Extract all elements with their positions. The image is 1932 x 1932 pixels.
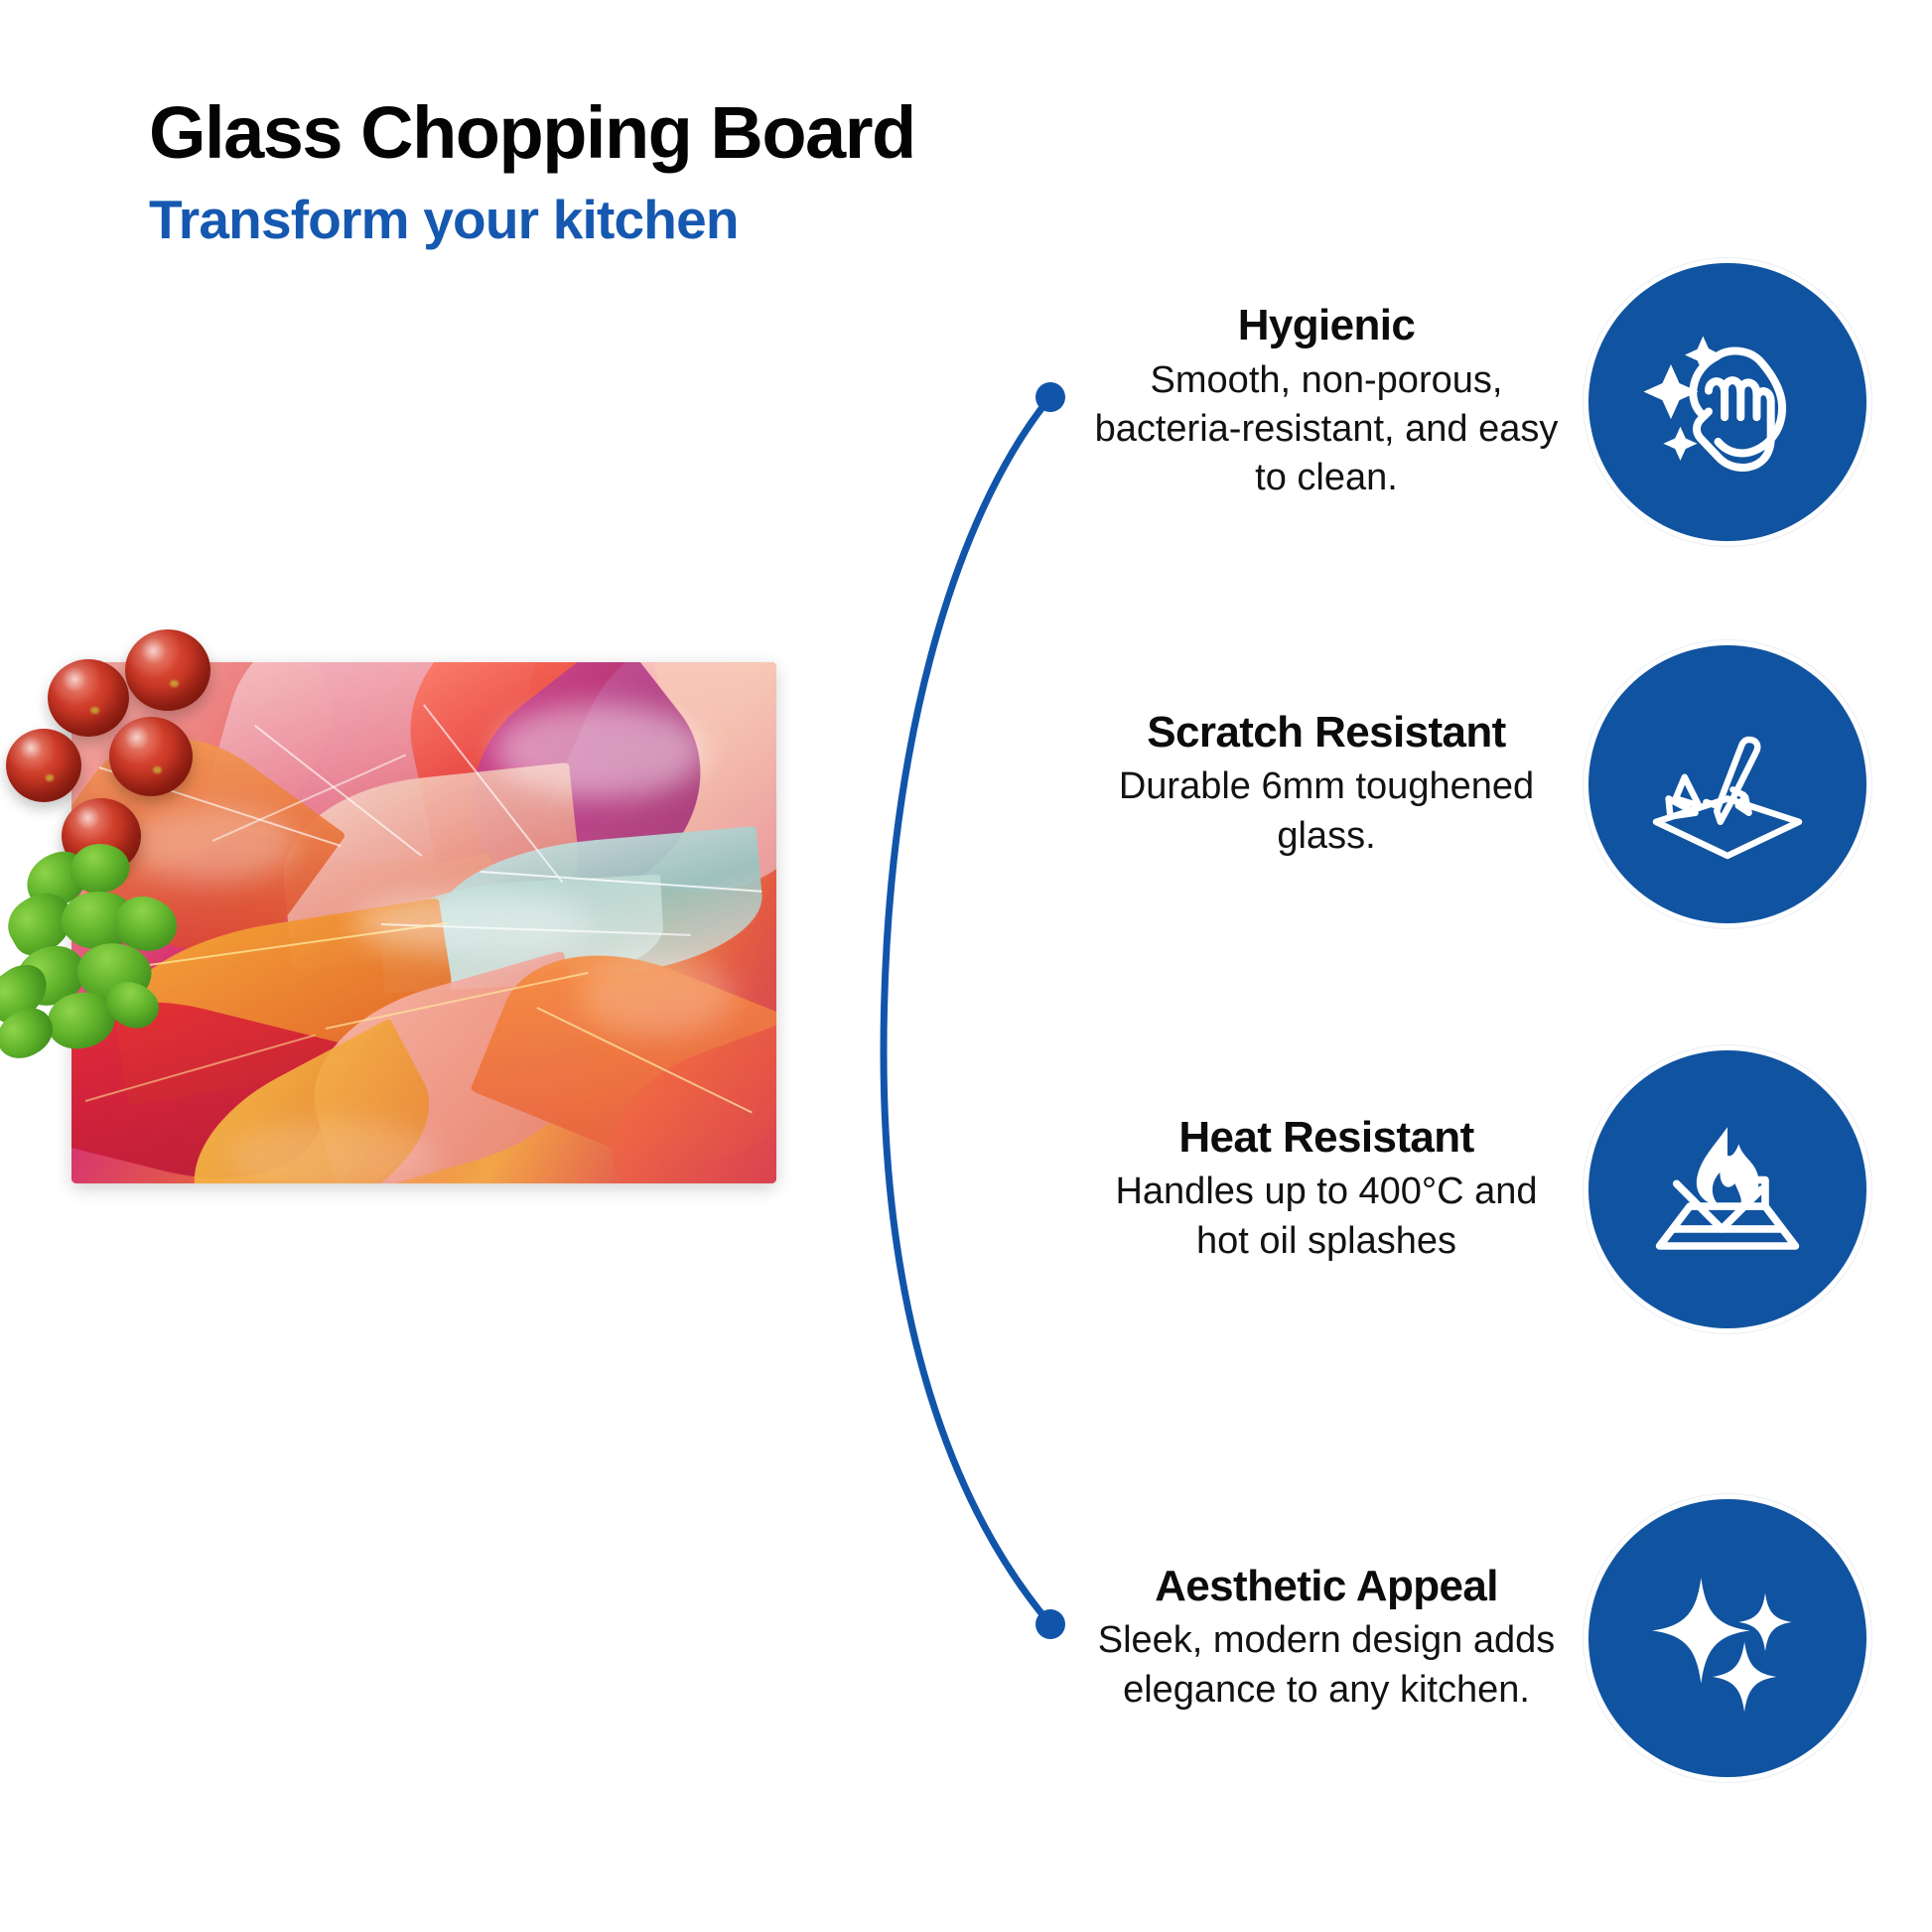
page-title: Glass Chopping Board bbox=[149, 95, 1142, 170]
feature-title: Heat Resistant bbox=[1092, 1113, 1561, 1162]
cherry-tomato bbox=[125, 629, 210, 711]
feature-title: Aesthetic Appeal bbox=[1092, 1562, 1561, 1610]
connector-dot-top bbox=[1035, 382, 1065, 412]
product-image bbox=[22, 608, 776, 1164]
page-subtitle: Transform your kitchen bbox=[149, 192, 1142, 249]
feature-description: Handles up to 400°C and hot oil splashes bbox=[1092, 1168, 1561, 1266]
feature-text-block: Heat Resistant Handles up to 400°C and h… bbox=[1092, 1113, 1588, 1266]
hand-wiping-sparkle-icon[interactable] bbox=[1588, 263, 1866, 541]
feature-hygienic: Hygienic Smooth, non-porous, bacteria-re… bbox=[1092, 263, 1866, 541]
flame-deflect-surface-icon[interactable] bbox=[1588, 1050, 1866, 1328]
feature-scratch-resistant: Scratch Resistant Durable 6mm toughened … bbox=[1092, 645, 1866, 923]
header-block: Glass Chopping Board Transform your kitc… bbox=[149, 95, 1142, 249]
infographic-canvas: Glass Chopping Board Transform your kitc… bbox=[0, 0, 1932, 1932]
feature-description: Smooth, non-porous, bacteria-resistant, … bbox=[1092, 356, 1561, 503]
sparkles-icon[interactable] bbox=[1588, 1499, 1866, 1777]
feature-description: Durable 6mm toughened glass. bbox=[1092, 762, 1561, 861]
knife-scratch-surface-icon[interactable] bbox=[1588, 645, 1866, 923]
cherry-tomato bbox=[48, 659, 129, 737]
feature-title: Hygienic bbox=[1092, 301, 1561, 349]
feature-heat-resistant: Heat Resistant Handles up to 400°C and h… bbox=[1092, 1050, 1866, 1328]
feature-text-block: Aesthetic Appeal Sleek, modern design ad… bbox=[1092, 1562, 1588, 1715]
parsley-sprig bbox=[0, 844, 228, 1072]
feature-aesthetic-appeal: Aesthetic Appeal Sleek, modern design ad… bbox=[1092, 1499, 1866, 1777]
feature-text-block: Hygienic Smooth, non-porous, bacteria-re… bbox=[1092, 301, 1588, 502]
connector-dot-bottom bbox=[1035, 1609, 1065, 1639]
cherry-tomato bbox=[6, 729, 81, 802]
feature-title: Scratch Resistant bbox=[1092, 708, 1561, 757]
feature-description: Sleek, modern design adds elegance to an… bbox=[1092, 1616, 1561, 1715]
cherry-tomato bbox=[109, 717, 193, 796]
feature-text-block: Scratch Resistant Durable 6mm toughened … bbox=[1092, 708, 1588, 861]
